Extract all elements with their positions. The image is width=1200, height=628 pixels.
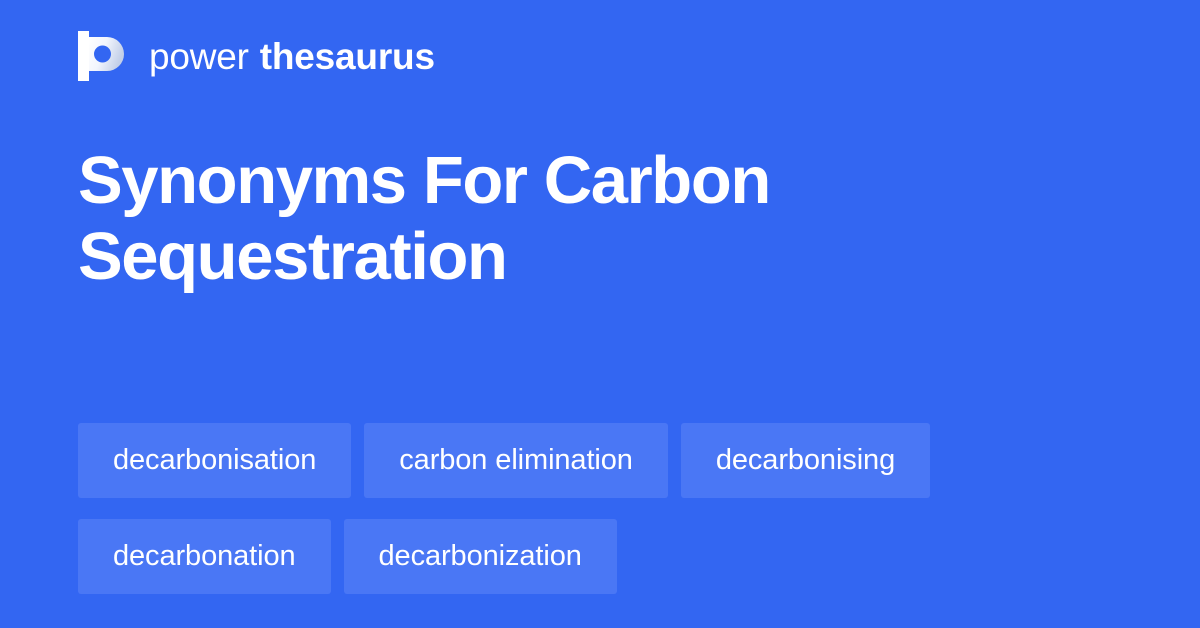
synonym-chip[interactable]: carbon elimination [364, 423, 668, 498]
synonym-chip[interactable]: decarbonization [344, 519, 617, 594]
brand-name-power: power [149, 38, 249, 75]
page-title: Synonyms for Carbon sequestration [78, 143, 1078, 296]
synonym-chip[interactable]: decarbonisation [78, 423, 351, 498]
brand-bar[interactable]: power thesaurus [78, 28, 435, 84]
synonym-chip[interactable]: decarbonation [78, 519, 331, 594]
brand-name-thesaurus: thesaurus [260, 38, 435, 75]
open-graph-card: power thesaurus Synonyms for Carbon sequ… [0, 0, 1200, 628]
power-thesaurus-b-logo-icon [78, 31, 126, 81]
synonym-chip-list: decarbonisation carbon elimination decar… [78, 423, 1122, 594]
brand-name: power thesaurus [149, 38, 435, 75]
synonym-chip[interactable]: decarbonising [681, 423, 930, 498]
